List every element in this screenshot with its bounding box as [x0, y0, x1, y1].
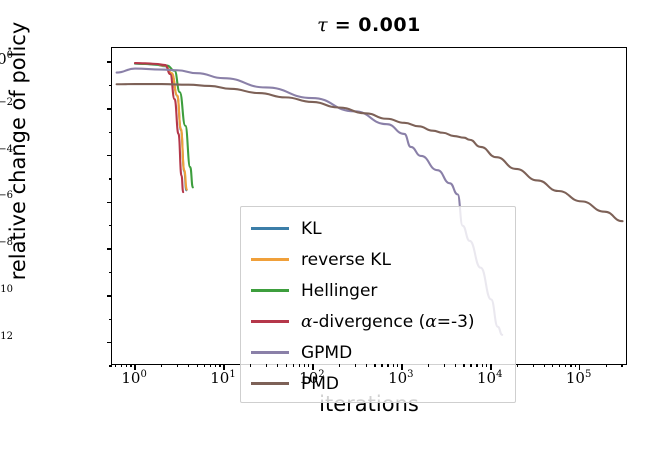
y-tick-label: 10−4: [0, 144, 13, 162]
legend-color-swatch: [251, 320, 289, 323]
legend-item-reverse-kl[interactable]: reverse KL: [251, 244, 507, 275]
legend-item-label: Hellinger: [301, 281, 377, 301]
figure-canvas: τ = 0.001 relative change of policy iter…: [0, 0, 650, 450]
x-tick-mark-minor: [470, 364, 471, 367]
x-tick-mark-minor: [339, 364, 340, 367]
y-tick-mark: [107, 155, 113, 157]
y-tick-mark-minor: [109, 132, 112, 133]
x-tick-mark-minor: [286, 364, 287, 367]
title-tau-symbol: τ: [317, 14, 328, 36]
x-tick-label: 105: [549, 369, 609, 387]
y-tick-mark-minor: [109, 319, 112, 320]
y-tick-label: 10−2: [0, 97, 13, 115]
legend-item-kl[interactable]: KL: [251, 213, 507, 244]
legend-color-swatch: [251, 258, 289, 261]
legend-item-hellinger[interactable]: Hellinger: [251, 275, 507, 306]
y-tick-mark: [107, 61, 113, 63]
legend-color-swatch: [251, 351, 289, 354]
x-tick-mark-minor: [308, 364, 309, 367]
y-tick-mark: [107, 295, 113, 297]
x-tick-mark-minor: [215, 364, 216, 367]
legend-item-divergence-3[interactable]: α-divergence (α=-3): [251, 306, 507, 337]
legend-color-swatch: [251, 227, 289, 230]
x-tick-mark-minor: [397, 364, 398, 367]
legend-item-gpmd[interactable]: GPMD: [251, 337, 507, 368]
x-tick-mark-minor: [177, 364, 178, 367]
x-tick-mark-minor: [161, 364, 162, 367]
y-tick-mark: [107, 248, 113, 250]
x-tick-mark-minor: [204, 364, 205, 367]
x-tick-mark-minor: [482, 364, 483, 367]
x-tick-mark-minor: [381, 364, 382, 367]
x-tick-mark-minor: [130, 364, 131, 367]
x-tick-mark-minor: [455, 364, 456, 367]
x-tick-label: 104: [460, 369, 520, 387]
x-tick-mark-minor: [559, 364, 560, 367]
x-tick-mark-minor: [355, 364, 356, 367]
x-tick-mark-minor: [621, 364, 622, 367]
x-tick-mark-minor: [444, 364, 445, 367]
series-line-kl: [135, 64, 186, 191]
chart-title: τ = 0.001: [111, 14, 627, 36]
y-tick-label: 100: [0, 50, 13, 68]
x-tick-mark-minor: [463, 364, 464, 367]
x-tick-mark-minor: [374, 364, 375, 367]
x-tick-mark-minor: [250, 364, 251, 367]
y-tick-mark: [107, 202, 113, 204]
x-tick-mark-minor: [575, 364, 576, 367]
plot-area: KLreverse KLHellingerα-divergence (α=-3)…: [111, 47, 627, 365]
y-tick-mark-minor: [109, 85, 112, 86]
x-tick-mark-minor: [210, 364, 211, 367]
series-line-reverse-kl: [135, 63, 187, 189]
legend-color-swatch: [251, 289, 289, 292]
x-tick-label: 103: [371, 369, 431, 387]
y-tick-mark: [107, 342, 113, 344]
y-tick-mark-minor: [109, 225, 112, 226]
y-tick-label: 10−10: [0, 284, 13, 302]
x-tick-mark-minor: [544, 364, 545, 367]
series-line-pmd: [117, 84, 623, 221]
x-tick-mark-minor: [552, 364, 553, 367]
x-tick-mark-minor: [219, 364, 220, 367]
x-tick-mark-minor: [533, 364, 534, 367]
legend-item-label: reverse KL: [301, 250, 391, 270]
x-tick-mark-minor: [126, 364, 127, 367]
x-tick-mark-minor: [115, 364, 116, 367]
x-tick-mark-minor: [570, 364, 571, 367]
x-tick-label: 102: [282, 369, 342, 387]
x-tick-mark-minor: [197, 364, 198, 367]
y-tick-mark: [107, 108, 113, 110]
x-tick-mark-minor: [476, 364, 477, 367]
legend-item-label: α-divergence (α=-3): [301, 312, 475, 332]
x-tick-mark-minor: [277, 364, 278, 367]
title-tau-value: = 0.001: [335, 14, 421, 36]
legend-item-label: GPMD: [301, 343, 352, 363]
y-tick-mark-minor: [109, 365, 112, 366]
x-tick-mark-minor: [565, 364, 566, 367]
y-tick-label: 10−8: [0, 237, 13, 255]
x-tick-mark-minor: [299, 364, 300, 367]
legend-item-label: KL: [301, 219, 322, 239]
y-axis-label: relative change of policy: [6, 0, 30, 326]
x-tick-mark-minor: [393, 364, 394, 367]
y-tick-mark-minor: [109, 272, 112, 273]
y-tick-label: 10−12: [0, 331, 13, 349]
y-tick-label: 10−6: [0, 190, 13, 208]
x-tick-label: 100: [104, 369, 164, 387]
x-tick-mark-minor: [366, 364, 367, 367]
x-tick-mark-minor: [304, 364, 305, 367]
series-line-divergence-3: [135, 63, 183, 192]
x-tick-mark-minor: [266, 364, 267, 367]
x-tick-mark-minor: [121, 364, 122, 367]
x-tick-mark-minor: [606, 364, 607, 367]
y-tick-mark-minor: [109, 178, 112, 179]
x-tick-label: 101: [193, 369, 253, 387]
x-tick-mark-minor: [188, 364, 189, 367]
x-tick-mark-minor: [293, 364, 294, 367]
x-tick-mark-minor: [387, 364, 388, 367]
x-tick-mark-minor: [428, 364, 429, 367]
x-tick-mark-minor: [517, 364, 518, 367]
x-tick-mark-minor: [486, 364, 487, 367]
